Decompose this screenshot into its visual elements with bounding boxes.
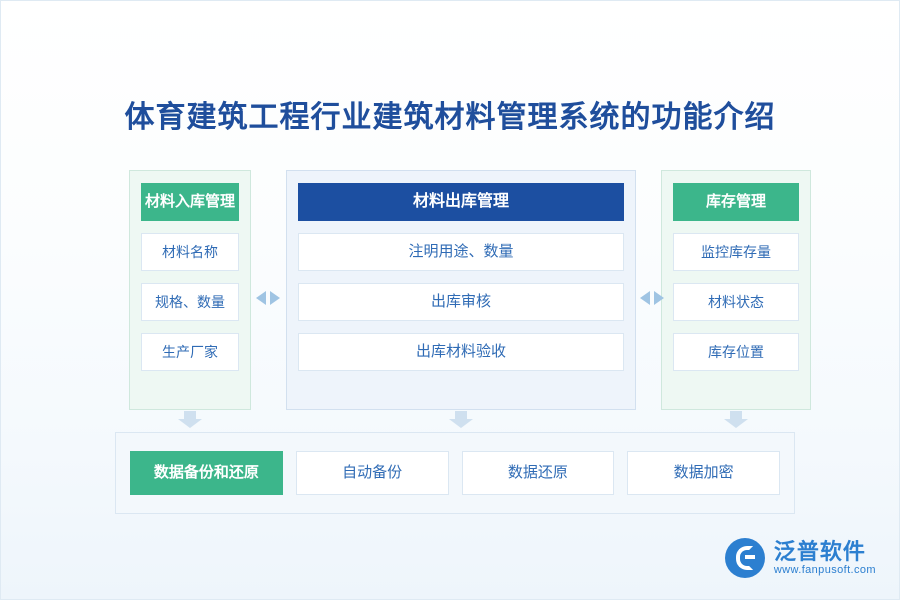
- item-purpose-quantity[interactable]: 注明用途、数量: [298, 233, 624, 271]
- item-material-status[interactable]: 材料状态: [673, 283, 799, 321]
- page-title: 体育建筑工程行业建筑材料管理系统的功能介绍: [0, 92, 900, 136]
- item-material-name[interactable]: 材料名称: [141, 233, 239, 271]
- brand-text: 泛普软件 www.fanpusoft.com: [774, 540, 876, 577]
- brand-mark-icon: [725, 538, 765, 578]
- brand-logo: 泛普软件 www.fanpusoft.com: [725, 538, 876, 578]
- item-stock-location[interactable]: 库存位置: [673, 333, 799, 371]
- column-header-material-outbound: 材料出库管理: [298, 183, 624, 221]
- item-spec-quantity[interactable]: 规格、数量: [141, 283, 239, 321]
- bottom-row-backup-restore: 数据备份和还原 自动备份 数据还原 数据加密: [115, 432, 795, 514]
- bottom-item-auto-backup[interactable]: 自动备份: [296, 451, 449, 495]
- double-arrow-right-icon: [637, 288, 667, 308]
- column-header-inventory-management: 库存管理: [673, 183, 799, 221]
- down-arrow-center-icon: [448, 411, 474, 429]
- column-material-inbound: 材料入库管理 材料名称 规格、数量 生产厂家: [129, 170, 251, 410]
- brand-url: www.fanpusoft.com: [774, 565, 876, 577]
- brand-name: 泛普软件: [774, 540, 876, 563]
- column-material-outbound: 材料出库管理 注明用途、数量 出库审核 出库材料验收: [286, 170, 636, 410]
- item-outbound-approval[interactable]: 出库审核: [298, 283, 624, 321]
- diagram-canvas: 体育建筑工程行业建筑材料管理系统的功能介绍 泛普软件 FANPU SOFT 材料…: [0, 0, 900, 600]
- bottom-item-data-restore[interactable]: 数据还原: [462, 451, 615, 495]
- double-arrow-left-icon: [253, 288, 283, 308]
- column-inventory-management: 库存管理 监控库存量 材料状态 库存位置: [661, 170, 811, 410]
- bottom-item-data-encryption[interactable]: 数据加密: [627, 451, 780, 495]
- item-manufacturer[interactable]: 生产厂家: [141, 333, 239, 371]
- bottom-item-backup-and-restore[interactable]: 数据备份和还原: [130, 451, 283, 495]
- item-stock-monitoring[interactable]: 监控库存量: [673, 233, 799, 271]
- column-header-material-inbound: 材料入库管理: [141, 183, 239, 221]
- item-outbound-inspection[interactable]: 出库材料验收: [298, 333, 624, 371]
- down-arrow-left-icon: [177, 411, 203, 429]
- down-arrow-right-icon: [723, 411, 749, 429]
